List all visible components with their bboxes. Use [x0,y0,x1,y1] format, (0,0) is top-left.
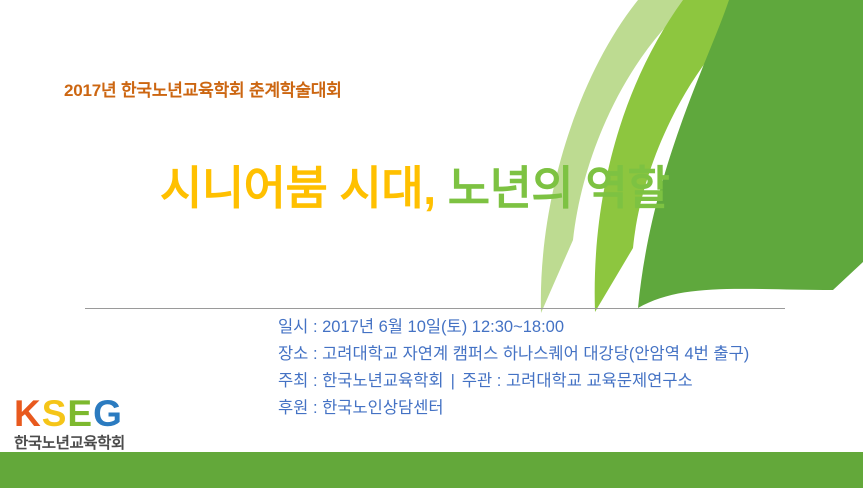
detail-organizer: 주관 : 고려대학교 교육문제연구소 [462,372,693,390]
kseg-logo-korean-name: 한국노년교육학회 [14,435,164,453]
kseg-letter-e: E [67,393,93,434]
kseg-letter-s: S [42,393,68,434]
kseg-logo-letters: KSEG [14,394,164,434]
swoosh-mid-shape [595,0,765,312]
swoosh-light-shape [541,0,693,313]
event-details-block: 일시 : 2017년 6월 10일(토) 12:30~18:00 장소 : 고려… [278,314,749,422]
detail-host-organizer: 주최 : 한국노년교육학회|주관 : 고려대학교 교육문제연구소 [278,368,749,395]
kseg-letter-g: G [93,393,123,434]
bottom-green-band [0,452,863,488]
swoosh-dark-shape [638,0,863,308]
title-part-green: 노년의 역할 [448,162,669,214]
event-kicker-line: 2017년 한국노년교육학회 춘계학술대회 [64,76,342,101]
kseg-letter-k: K [14,393,42,434]
detail-venue: 장소 : 고려대학교 자연계 캠퍼스 하나스퀘어 대강당(안암역 4번 출구) [278,341,749,368]
conference-poster-slide: 2017년 한국노년교육학회 춘계학술대회 시니어붐 시대, 노년의 역할 일시… [0,0,863,488]
detail-separator: | [444,368,462,395]
title-part-orange: 시니어붐 시대, [160,162,435,214]
page-title: 시니어붐 시대, 노년의 역할 [160,163,669,214]
detail-datetime: 일시 : 2017년 6월 10일(토) 12:30~18:00 [278,314,749,341]
kseg-logo: KSEG 한국노년교육학회 KOREAN SOCIETY OF EDUCATIO… [14,394,164,461]
detail-host: 주최 : 한국노년교육학회 [278,372,444,390]
detail-sponsor: 후원 : 한국노인상담센터 [278,395,749,422]
horizontal-divider [85,308,785,309]
